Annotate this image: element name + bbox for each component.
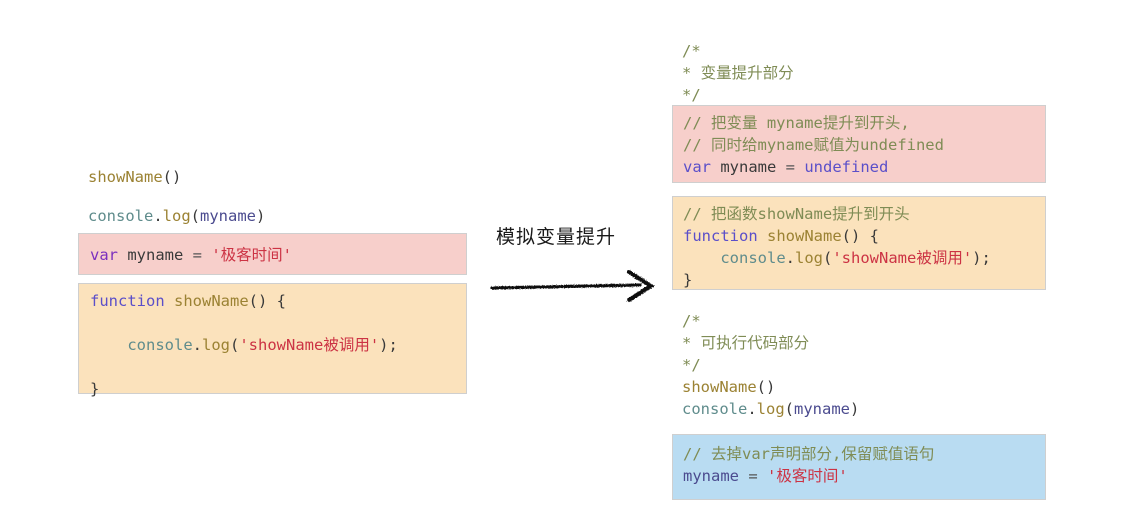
- right-var-hoist-box: // 把变量 myname提升到开头, // 同时给myname赋值为undef…: [672, 105, 1046, 183]
- arrow-label: 模拟变量提升: [496, 222, 616, 249]
- close-paren-token: ): [256, 207, 265, 225]
- function-signature-tail: () {: [249, 292, 286, 310]
- close-paren-token: ): [850, 400, 859, 418]
- property-token: log: [757, 400, 785, 418]
- function-keyword-token: function: [90, 292, 165, 310]
- variable-name-token: myname: [127, 246, 183, 264]
- left-call-showname-line: showName(): [88, 166, 181, 188]
- object-token: console: [720, 249, 785, 267]
- comment-line: // 把函数showName提升到开头: [683, 205, 910, 223]
- right-arrow-icon: [490, 264, 670, 304]
- right-function-hoist-code: // 把函数showName提升到开头 function showName() …: [673, 197, 1045, 291]
- parens-token: (): [757, 378, 776, 396]
- dot-token: .: [747, 400, 756, 418]
- open-paren-token: (: [785, 400, 794, 418]
- string-literal-token: 'showName被调用': [239, 336, 379, 354]
- function-name-token: showName: [682, 378, 757, 396]
- comment-line: // 去掉var声明部分,保留赋值语句: [683, 445, 934, 463]
- assign-operator-token: =: [739, 467, 767, 485]
- diagram-canvas: showName() console.log(myname) var mynam…: [0, 0, 1142, 528]
- left-console-log-line: console.log(myname): [88, 205, 265, 227]
- comment-line-1: /*: [682, 42, 701, 60]
- left-function-code: function showName() { console.log('showN…: [79, 284, 466, 400]
- string-literal-token: 'showName被调用': [832, 249, 972, 267]
- var-keyword-token: var: [90, 246, 118, 264]
- space-token: [758, 227, 767, 245]
- function-name-token: showName: [88, 168, 163, 186]
- open-paren-token: (: [823, 249, 832, 267]
- comment-line-3: */: [682, 86, 701, 104]
- property-token: log: [202, 336, 230, 354]
- left-var-declaration-box: var myname = '极客时间': [78, 233, 467, 275]
- right-comment-block-hoisting: /* * 变量提升部分 */: [682, 40, 794, 106]
- string-literal-token: '极客时间': [767, 467, 848, 485]
- parens-token: (): [163, 168, 182, 186]
- dot-token: .: [193, 336, 202, 354]
- function-signature-tail: () {: [842, 227, 879, 245]
- object-token: console: [682, 400, 747, 418]
- comment-line-2: * 变量提升部分: [682, 64, 794, 82]
- indent-token: [90, 336, 127, 354]
- var-keyword-token: var: [683, 158, 711, 176]
- indent-token: [683, 249, 720, 267]
- space-token: [711, 158, 720, 176]
- right-assignment-box: // 去掉var声明部分,保留赋值语句 myname = '极客时间': [672, 434, 1046, 500]
- function-name-token: showName: [767, 227, 842, 245]
- closing-brace-token: }: [90, 380, 99, 398]
- comment-line-3: */: [682, 356, 701, 374]
- right-comment-block-executable: /* * 可执行代码部分 */ showName() console.log(m…: [682, 310, 859, 420]
- comment-line-1: // 把变量 myname提升到开头,: [683, 114, 910, 132]
- assign-operator-token: =: [776, 158, 804, 176]
- close-paren-token: );: [379, 336, 398, 354]
- dot-token: .: [786, 249, 795, 267]
- string-literal-token: '极客时间': [211, 246, 292, 264]
- variable-name-token: myname: [683, 467, 739, 485]
- comment-line-2: // 同时给myname赋值为undefined: [683, 136, 944, 154]
- undefined-value-token: undefined: [804, 158, 888, 176]
- open-paren-token: (: [230, 336, 239, 354]
- dot-token: .: [153, 207, 162, 225]
- space-token: [165, 292, 174, 310]
- property-token: log: [795, 249, 823, 267]
- argument-token: myname: [794, 400, 850, 418]
- right-assignment-code: // 去掉var声明部分,保留赋值语句 myname = '极客时间': [673, 435, 1045, 487]
- left-var-declaration-line: var myname = '极客时间': [79, 234, 466, 266]
- object-token: console: [88, 207, 153, 225]
- space-token: [118, 246, 127, 264]
- comment-line-2: * 可执行代码部分: [682, 334, 809, 352]
- variable-name-token: myname: [720, 158, 776, 176]
- function-name-token: showName: [174, 292, 249, 310]
- assign-operator-token: =: [183, 246, 211, 264]
- argument-token: myname: [200, 207, 256, 225]
- comment-line-1: /*: [682, 312, 701, 330]
- right-function-hoist-box: // 把函数showName提升到开头 function showName() …: [672, 196, 1046, 290]
- left-function-declaration-box: function showName() { console.log('showN…: [78, 283, 467, 394]
- open-paren-token: (: [191, 207, 200, 225]
- closing-brace-token: }: [683, 271, 692, 289]
- right-var-hoist-code: // 把变量 myname提升到开头, // 同时给myname赋值为undef…: [673, 106, 1045, 178]
- object-token: console: [127, 336, 192, 354]
- transition-arrow-group: 模拟变量提升: [490, 222, 670, 302]
- close-paren-token: );: [972, 249, 991, 267]
- function-keyword-token: function: [683, 227, 758, 245]
- property-token: log: [163, 207, 191, 225]
